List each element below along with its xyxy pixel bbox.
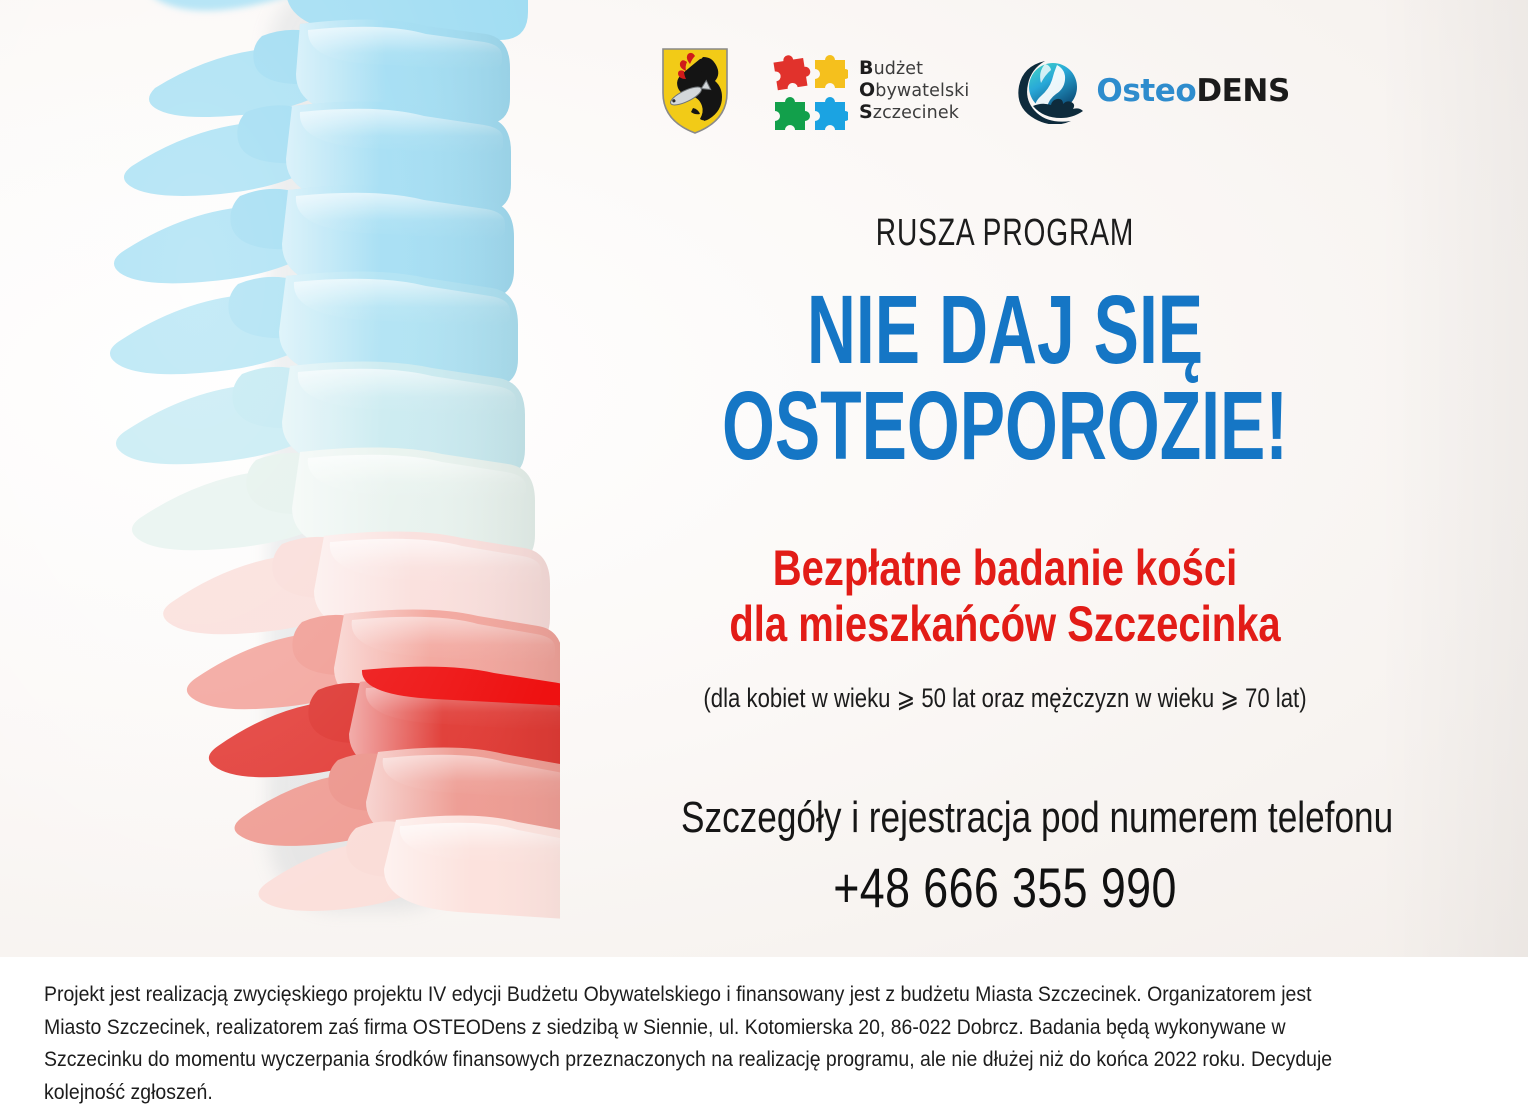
logo-bar: Budżet Obywatelski Szczecinek <box>660 40 1320 142</box>
szczecinek-coat-of-arms-icon <box>660 46 730 136</box>
osteodens-logo: OsteoDENS <box>1017 58 1290 124</box>
budzet-obywatelski-logo: Budżet Obywatelski Szczecinek <box>772 52 969 130</box>
puzzle-pieces-icon <box>772 52 848 130</box>
subtitle: Bezpłatne badanie kości dla mieszkańców … <box>681 540 1329 652</box>
program-kicker: RUSZA PROGRAM <box>705 212 1304 255</box>
eligibility-note: (dla kobiet w wieku ⩾ 50 lat oraz mężczy… <box>673 683 1337 714</box>
headline-line-1: NIE DAJ SIĘ <box>722 282 1289 378</box>
osteodens-word-dens: DENS <box>1196 73 1290 109</box>
phone-number[interactable]: +48 666 355 990 <box>681 855 1329 920</box>
subtitle-line-2: dla mieszkańców Szczecinka <box>681 596 1329 652</box>
subtitle-line-1: Bezpłatne badanie kości <box>681 540 1329 596</box>
osteodens-hand-bone-icon <box>1017 58 1087 124</box>
headline-line-2: OSTEOPOROZIE! <box>722 378 1289 474</box>
footer-disclaimer: Projekt jest realizacją zwycięskiego pro… <box>44 978 1352 1109</box>
bos-line-budzet: Budżet <box>859 58 969 80</box>
bos-line-szczecinek: Szczecinek <box>859 102 969 124</box>
page-title: NIE DAJ SIĘ OSTEOPOROZIE! <box>722 282 1289 474</box>
poster: Budżet Obywatelski Szczecinek <box>0 0 1528 1080</box>
spine-illustration <box>0 0 560 957</box>
registration-cta: Szczegóły i rejestracja pod numerem tele… <box>681 796 1329 841</box>
poster-stage: Budżet Obywatelski Szczecinek <box>0 0 1528 957</box>
osteodens-word-osteo: Osteo <box>1096 73 1196 109</box>
osteodens-wordmark: OsteoDENS <box>1096 73 1290 109</box>
bos-line-obywatelski: Obywatelski <box>859 80 969 102</box>
footer: Projekt jest realizacją zwycięskiego pro… <box>0 957 1528 1080</box>
bos-wordmark: Budżet Obywatelski Szczecinek <box>859 58 969 123</box>
